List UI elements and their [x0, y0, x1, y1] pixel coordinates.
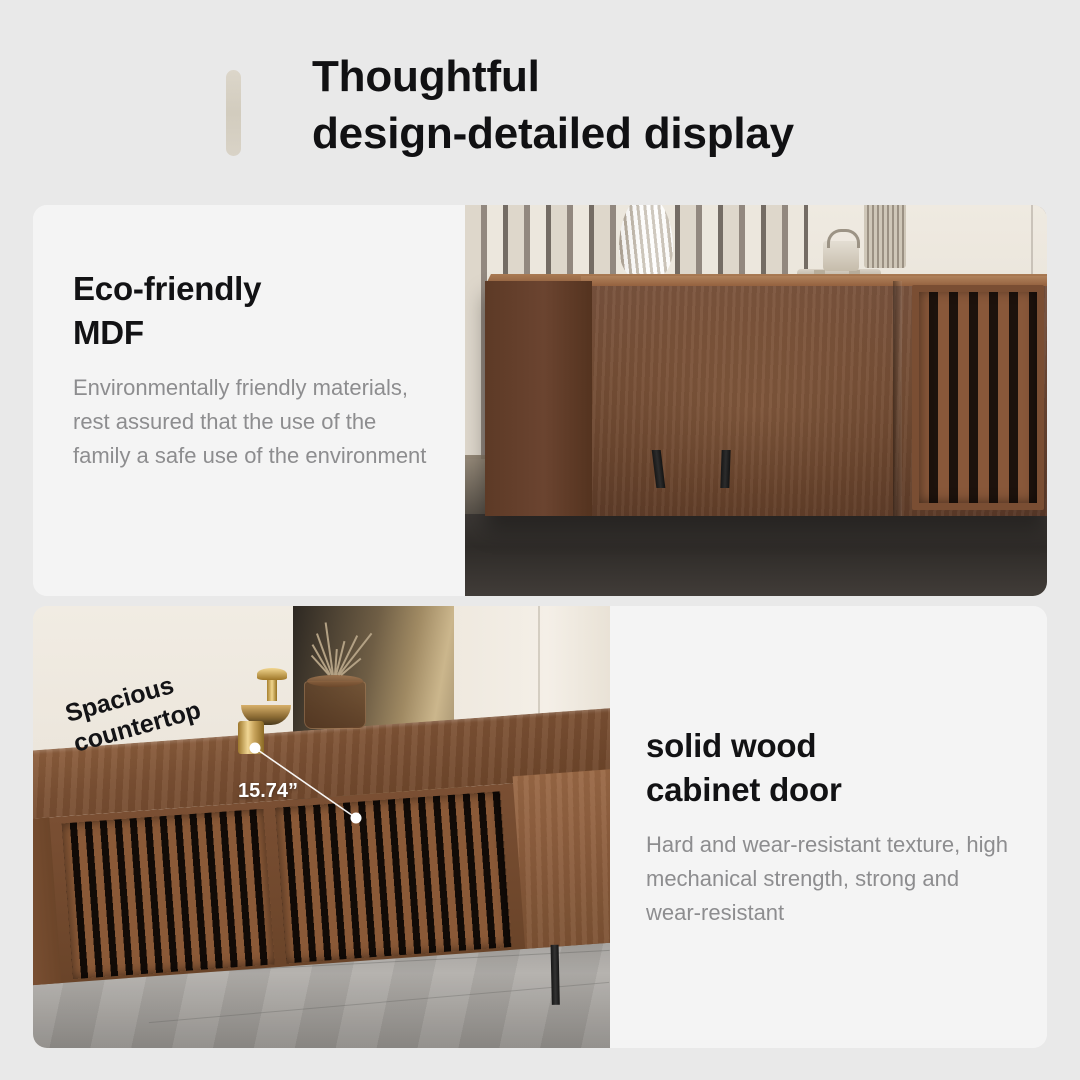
feature-description: Environmentally friendly materials, rest…	[73, 371, 429, 473]
dried-branches	[322, 617, 402, 675]
product-photo-sideboard	[465, 205, 1047, 596]
amber-glass-jar	[304, 681, 366, 729]
cabinet-side-panel	[485, 281, 592, 516]
feature-description: Hard and wear-resistant texture, high me…	[646, 828, 1011, 930]
feature-title-line-1: solid wood	[646, 727, 816, 764]
scene-sideboard	[465, 205, 1047, 596]
ceramic-vase	[619, 205, 673, 281]
console-left-door	[33, 817, 61, 986]
dark-floor	[465, 514, 1047, 596]
headline-line-2: design-detailed display	[312, 105, 1012, 162]
feature-text-pane: Eco-friendly MDF Environmentally friendl…	[33, 205, 465, 596]
feature-card-eco-friendly-mdf: Eco-friendly MDF Environmentally friendl…	[33, 205, 1047, 596]
feature-title-line-2: cabinet door	[646, 768, 1011, 812]
feature-title-line-1: Eco-friendly	[73, 270, 261, 307]
page-title: Thoughtful design-detailed display	[312, 48, 1012, 162]
feature-title: Eco-friendly MDF	[73, 267, 429, 355]
ribbed-vessel	[864, 205, 906, 268]
brass-candle-holder	[267, 675, 277, 701]
page-header: Thoughtful design-detailed display	[0, 0, 1080, 190]
handled-jar	[823, 241, 859, 271]
headline-line-1: Thoughtful	[312, 52, 540, 101]
cabinet-door-seam	[893, 281, 902, 516]
accent-bar	[226, 70, 241, 156]
console-right-door	[512, 768, 610, 949]
feature-text-pane: solid wood cabinet door Hard and wear-re…	[610, 606, 1047, 1048]
console-leg-left	[550, 945, 559, 1005]
cabinet-leg-right	[721, 450, 731, 488]
feature-title-line-2: MDF	[73, 311, 429, 355]
cabinet-slat-frame	[912, 285, 1044, 510]
sideboard-cabinet	[485, 281, 1047, 516]
feature-title: solid wood cabinet door	[646, 724, 1011, 812]
dimension-value: 15.74”	[238, 780, 298, 803]
cabinet-leg-left	[652, 450, 666, 488]
